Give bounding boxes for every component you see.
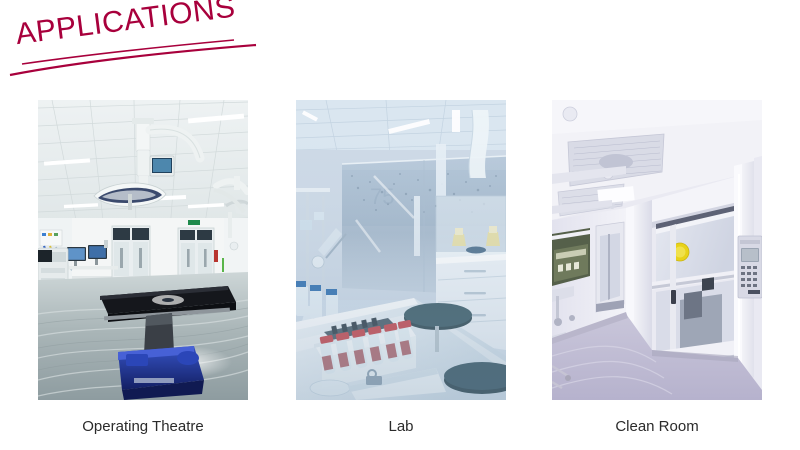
panel-lab[interactable]: 75 [296,100,506,400]
caption-clean-room: Clean Room [552,418,762,435]
photo-lab: 75 [296,100,506,400]
caption-operating-theatre: Operating Theatre [38,418,248,435]
photo-clean-room [552,100,762,400]
page-title-label: APPLICATIONS [14,0,237,52]
panel-clean-room[interactable] [552,100,762,400]
panel-operating-theatre[interactable] [38,100,248,400]
page-title: APPLICATIONS [8,8,268,78]
caption-lab: Lab [296,418,506,435]
photo-operating-theatre [38,100,248,400]
